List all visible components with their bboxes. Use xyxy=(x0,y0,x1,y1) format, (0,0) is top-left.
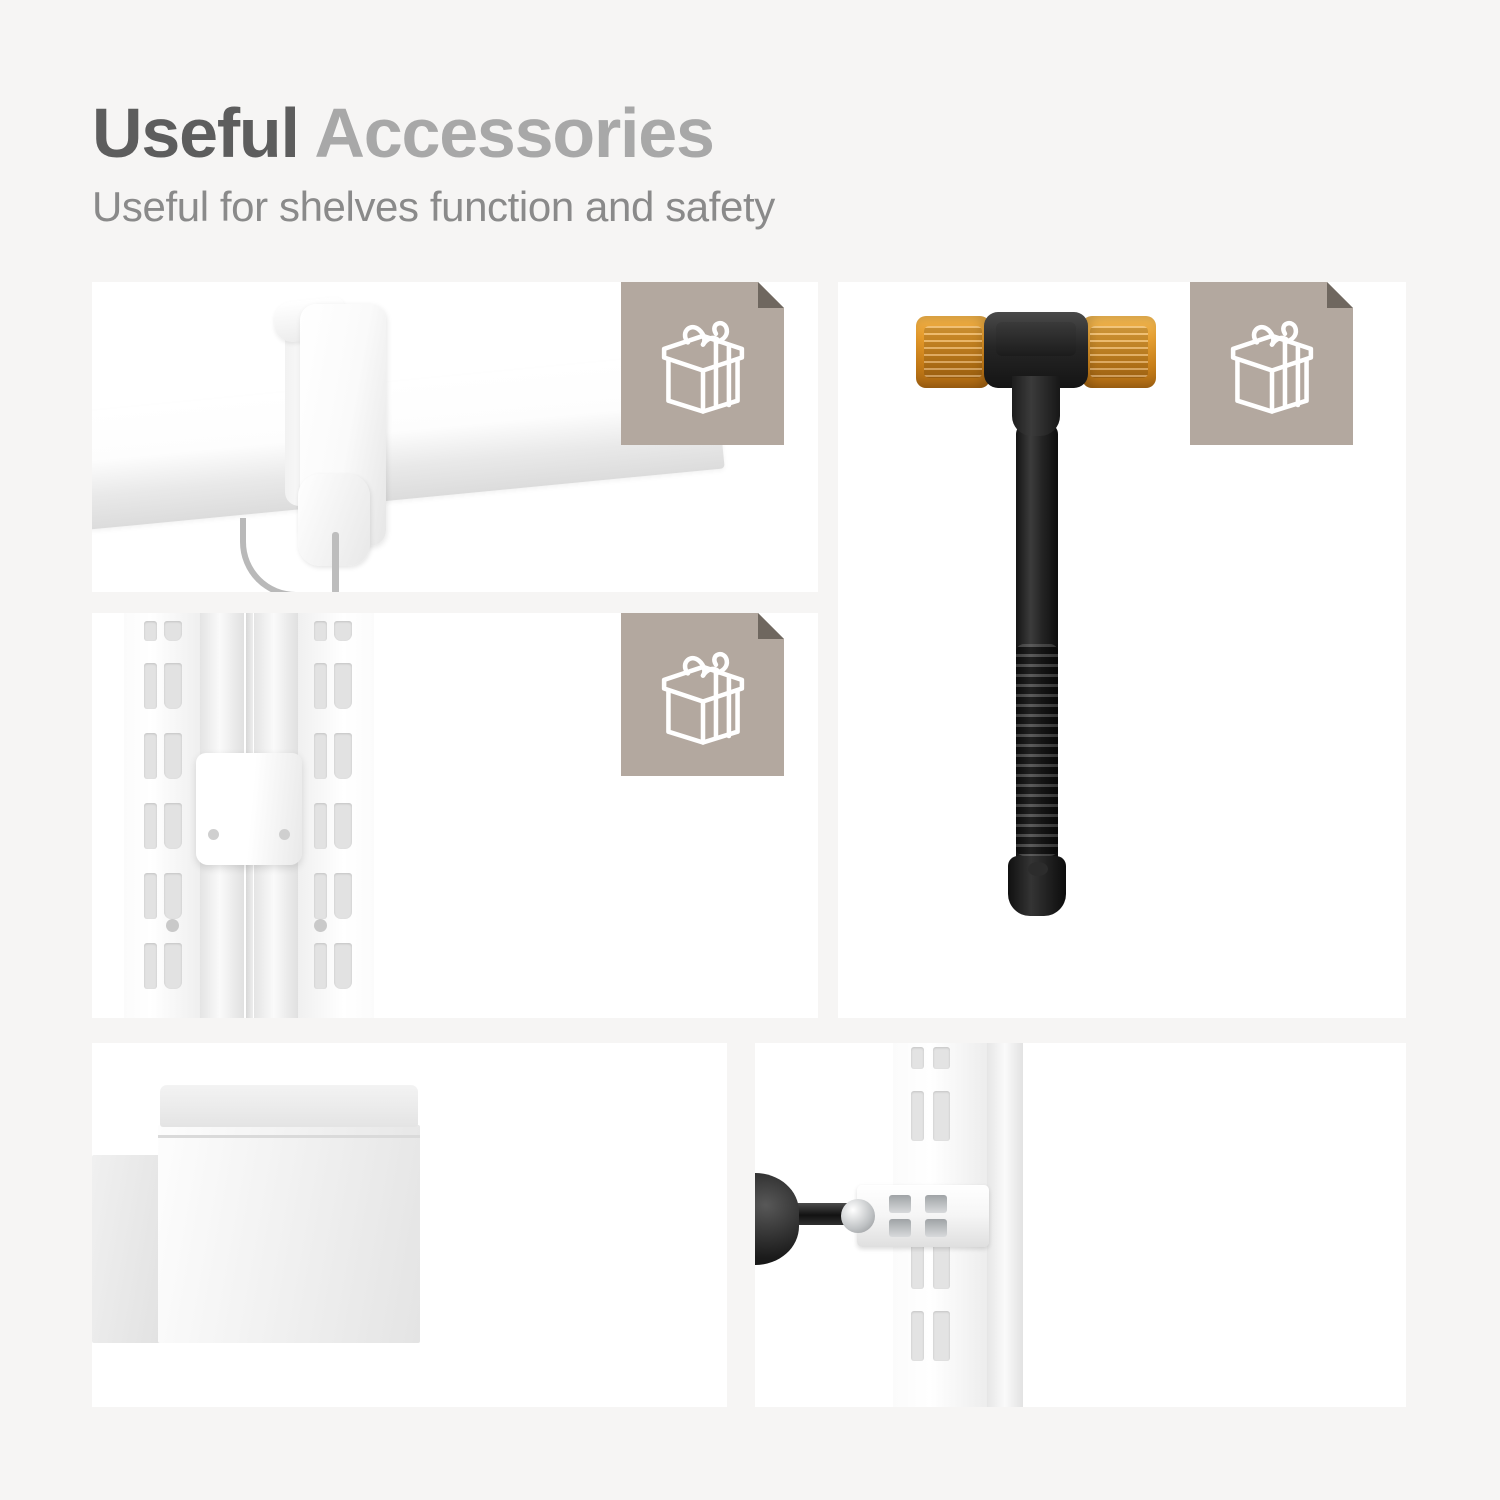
card-post-fixing-clip: Post Fixing Clip Using two modules like … xyxy=(92,613,818,1018)
wall-bracket-screw-shape xyxy=(841,1199,875,1233)
card-c-hook: C-Hook More efficient Organize xyxy=(92,282,818,592)
mallet-face-ridges-right xyxy=(1090,326,1148,378)
badge-corner-fold xyxy=(1327,282,1353,308)
wall-bracket-shape xyxy=(857,1185,989,1247)
card-wall-fixing-bracket: Wall-Fixing bracket To secure the module… xyxy=(755,1043,1406,1407)
badge-corner-fold xyxy=(758,282,784,308)
mallet-neck-shape xyxy=(1012,376,1060,436)
gift-box-badge xyxy=(621,613,784,776)
page-title-strong: Useful xyxy=(92,94,299,172)
gift-box-icon xyxy=(649,641,757,749)
page-title: Useful Accessories xyxy=(92,98,1412,168)
post-cap-top-shape xyxy=(160,1085,418,1127)
post-fixing-clip-photo xyxy=(108,613,408,1018)
card-double-mallet: Double Mallet Useful for easy assembly a… xyxy=(838,282,1406,1018)
c-hook-photo xyxy=(92,282,652,592)
post-left-face-shape xyxy=(124,613,200,1018)
card-post-cap: Post Cap To prevent scratches and damage xyxy=(92,1043,727,1407)
infographic-page: Useful Accessories Useful for shelves fu… xyxy=(0,0,1500,1500)
post-cap-seam-shape xyxy=(158,1135,420,1138)
hook-wire-stem-shape xyxy=(332,532,339,592)
hook-wire-shape xyxy=(240,518,336,592)
mallet-face-left-shape xyxy=(916,316,990,388)
gift-box-icon xyxy=(1218,310,1326,418)
page-title-light: Accessories xyxy=(314,94,713,172)
mallet-face-ridges-left xyxy=(924,326,982,378)
wall-fixing-bracket-photo xyxy=(755,1043,1085,1407)
post-cap-body-shape xyxy=(158,1125,420,1343)
post-pair-shape xyxy=(124,613,374,1018)
screwdriver-handle-shape xyxy=(755,1173,799,1265)
gift-box-badge xyxy=(1190,282,1353,445)
post-fixing-clip-shape xyxy=(196,753,302,865)
post-cap-side-shape xyxy=(92,1155,160,1343)
gift-box-icon xyxy=(649,310,757,418)
wall-post-edge-shape xyxy=(987,1043,1023,1407)
post-cap-photo xyxy=(92,1043,492,1407)
gift-box-badge xyxy=(621,282,784,445)
badge-corner-fold xyxy=(758,613,784,639)
page-header: Useful Accessories Useful for shelves fu… xyxy=(92,98,1412,230)
page-subtitle: Useful for shelves function and safety xyxy=(92,184,1412,230)
double-mallet-photo xyxy=(916,304,1156,944)
mallet-butt-shape xyxy=(1008,856,1066,916)
mallet-grip-shape xyxy=(1016,644,1058,856)
mallet-face-right-shape xyxy=(1082,316,1156,388)
